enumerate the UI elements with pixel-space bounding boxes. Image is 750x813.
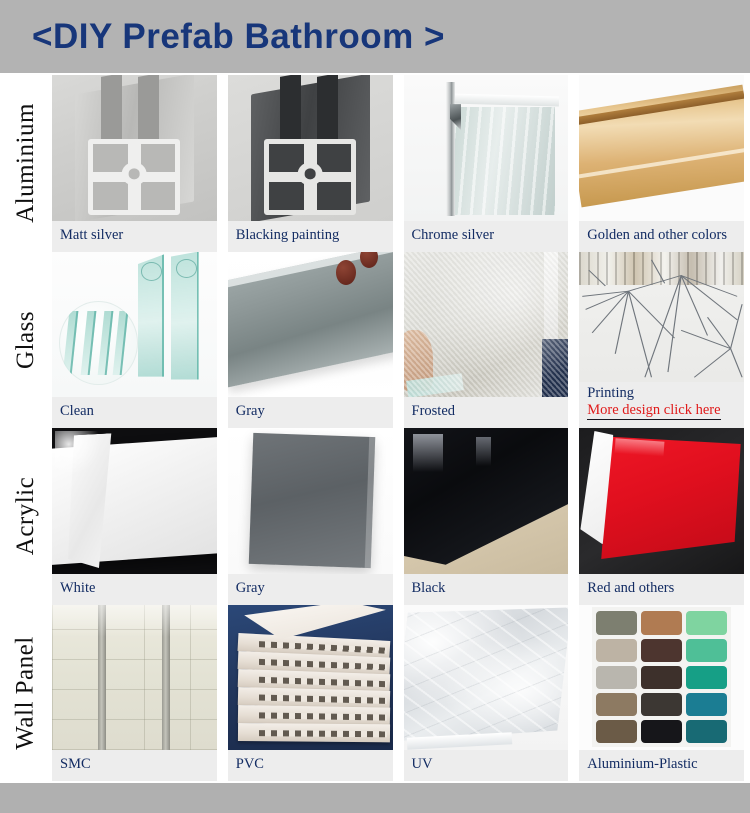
material-row-wall-panel: Wall Panel SMC [0,605,750,782]
color-swatch [686,693,727,716]
color-swatch [641,639,682,662]
pvc-wall-panel-stack-thumbnail [228,605,393,751]
caption: Blacking painting [228,221,393,252]
caption-text: White [60,579,209,597]
caption-text: PVC [236,755,385,773]
caption-text: Blacking painting [236,226,385,244]
frosted-glass-sheet-thumbnail [404,252,569,398]
row-cells: White Gray [52,428,750,605]
caption: Clean [52,397,217,428]
aluminium-extrusion-black-painted-thumbnail [228,75,393,221]
row-label-glass: Glass [0,252,52,429]
material-cell-golden[interactable]: Golden and other colors [579,75,744,252]
caption: Frosted [404,397,569,428]
product-material-catalog: <DIY Prefab Bathroom > Aluminium [0,0,750,813]
color-swatch [596,639,637,662]
color-swatch [641,611,682,634]
material-cell-frosted-glass[interactable]: Frosted [404,252,569,429]
material-cell-smc[interactable]: SMC [52,605,217,782]
material-cell-printing-glass[interactable]: Printing More design click here [579,252,744,429]
material-cell-gray-acrylic[interactable]: Gray [228,428,393,605]
red-acrylic-sheet-thumbnail [579,428,744,574]
caption-text: Clean [60,402,209,420]
gray-tinted-glass-sheet-thumbnail [228,252,393,398]
clear-tempered-glass-thumbnail [52,252,217,398]
row-cells: Matt silver Blacking pai [52,75,750,252]
black-acrylic-sheet-thumbnail [404,428,569,574]
caption-text: Frosted [412,402,561,420]
row-label-acrylic: Acrylic [0,428,52,605]
material-cell-red-acrylic[interactable]: Red and others [579,428,744,605]
caption: Gray [228,574,393,605]
caption: White [52,574,217,605]
row-cells: SMC [52,605,750,782]
footer-banner [0,783,750,813]
aluminium-plastic-swatch-card-thumbnail [579,605,744,751]
caption-text: Black [412,579,561,597]
printed-pattern-glass-thumbnail [579,252,744,383]
header-banner: <DIY Prefab Bathroom > [0,0,750,73]
caption: Chrome silver [404,221,569,252]
row-label-wall-panel: Wall Panel [0,605,52,782]
caption-text: Matt silver [60,226,209,244]
color-swatch [686,666,727,689]
caption-text: Printing [587,384,736,402]
color-swatch [686,611,727,634]
caption-text: Red and others [587,579,736,597]
caption-text: Aluminium-Plastic [587,755,736,773]
caption: Black [404,574,569,605]
row-label-text: Aluminium [12,103,40,223]
material-cell-gray-glass[interactable]: Gray [228,252,393,429]
caption: Red and others [579,574,744,605]
aluminium-extrusion-matt-silver-thumbnail [52,75,217,221]
caption: SMC [52,750,217,781]
color-swatch [641,666,682,689]
row-label-text: Wall Panel [12,636,40,749]
material-row-glass: Glass Clean [0,252,750,429]
material-cell-blacking-painting[interactable]: Blacking painting [228,75,393,252]
caption-text: Chrome silver [412,226,561,244]
golden-aluminium-bar-thumbnail [579,75,744,221]
chrome-silver-door-frame-thumbnail [404,75,569,221]
color-swatch [641,720,682,743]
swatch-grid [592,607,730,747]
color-swatch [596,693,637,716]
page-title: <DIY Prefab Bathroom > [32,17,445,57]
caption: Golden and other colors [579,221,744,252]
color-swatch [686,639,727,662]
row-cells: Clean Gray [52,252,750,429]
uv-marble-panel-thumbnail [404,605,569,751]
material-cell-pvc[interactable]: PVC [228,605,393,782]
material-cell-clean-glass[interactable]: Clean [52,252,217,429]
white-acrylic-sheet-thumbnail [52,428,217,574]
material-cell-chrome-silver[interactable]: Chrome silver [404,75,569,252]
color-swatch [596,720,637,743]
caption-text: Gray [236,402,385,420]
color-swatch [641,693,682,716]
material-cell-uv[interactable]: UV [404,605,569,782]
caption-text: Gray [236,579,385,597]
gray-acrylic-sheet-thumbnail [228,428,393,574]
caption: Gray [228,397,393,428]
caption: Aluminium-Plastic [579,750,744,781]
row-label-aluminium: Aluminium [0,75,52,252]
caption: UV [404,750,569,781]
material-row-aluminium: Aluminium Matt silver [0,75,750,252]
caption-text: UV [412,755,561,773]
smc-wall-panel-thumbnail [52,605,217,751]
material-cell-aluminium-plastic[interactable]: Aluminium-Plastic [579,605,744,782]
color-swatch [596,611,637,634]
material-cell-white-acrylic[interactable]: White [52,428,217,605]
more-design-link[interactable]: More design click here [587,402,720,420]
caption: Printing More design click here [579,382,744,428]
material-cell-matt-silver[interactable]: Matt silver [52,75,217,252]
row-label-text: Acrylic [12,477,40,555]
material-row-acrylic: Acrylic White [0,428,750,605]
caption-text: Golden and other colors [587,226,736,244]
caption-text: SMC [60,755,209,773]
material-grid: Aluminium Matt silver [0,75,750,781]
color-swatch [596,666,637,689]
color-swatch [686,720,727,743]
caption: Matt silver [52,221,217,252]
material-cell-black-acrylic[interactable]: Black [404,428,569,605]
caption: PVC [228,750,393,781]
row-label-text: Glass [12,311,40,369]
